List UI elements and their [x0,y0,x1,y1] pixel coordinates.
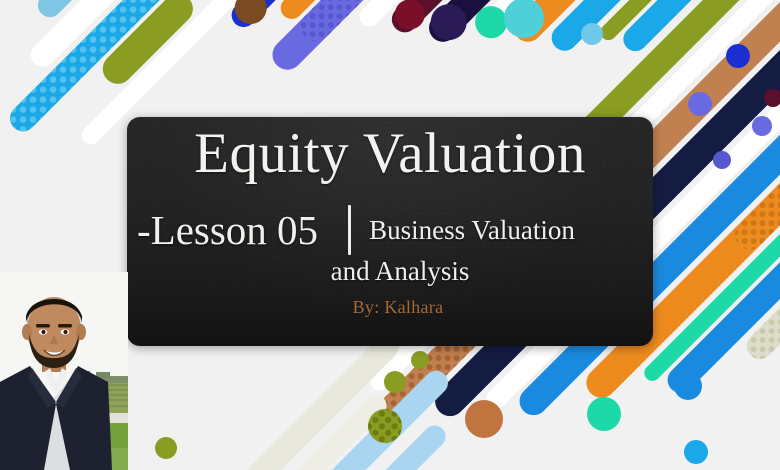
deco-circle [465,400,503,438]
deco-circle [684,440,708,464]
deco-circle [674,372,702,400]
deco-circle [587,397,621,431]
deco-circle [688,92,712,116]
deco-circle [368,409,402,443]
deco-circle [726,44,750,68]
deco-circle [581,23,603,45]
vertical-divider [348,205,351,255]
deco-circle [155,437,177,459]
deco-circle [713,151,731,169]
title-card: Equity Valuation -Lesson 05 Business Val… [127,117,653,346]
presenter-webcam-feed [0,272,128,470]
deco-circle [411,351,429,369]
deco-circle [752,116,772,136]
lesson-label: -Lesson 05 [135,210,318,251]
course-name-line2: and Analysis [135,254,653,289]
deco-circle [384,371,406,393]
course-name-line1: Business Valuation [369,213,575,248]
subtitle-row: -Lesson 05 Business Valuation [135,205,645,255]
presentation-slide: Equity Valuation -Lesson 05 Business Val… [0,0,780,470]
byline: By: Kalhara [135,297,653,318]
page-title: Equity Valuation [139,124,641,184]
